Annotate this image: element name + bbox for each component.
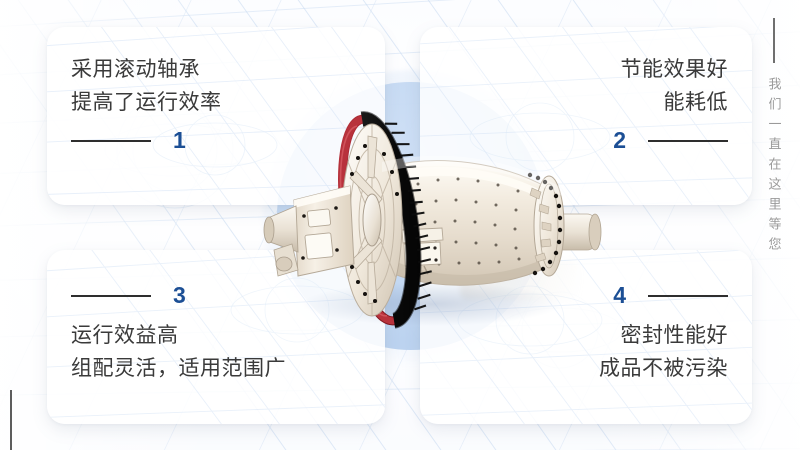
card-2-line-2: 能耗低 <box>664 86 729 119</box>
side-slogan-text: 我们一直在这里等您 <box>765 77 784 257</box>
card-1-rule <box>71 140 151 142</box>
card-4-line-1: 密封性能好 <box>621 319 729 352</box>
side-rule <box>773 18 775 63</box>
card-1-line-1: 采用滚动轴承 <box>71 53 200 86</box>
poster-canvas: 采用滚动轴承 提高了运行效率 1 节能效果好 能耗低 <box>0 0 800 450</box>
card-4-number: 4 <box>613 284 626 307</box>
card-4-line-2: 成品不被污染 <box>599 352 728 385</box>
card-3-line-2: 组配灵活，适用范围广 <box>71 352 286 385</box>
card-4-rule <box>648 295 728 297</box>
card-2-number: 2 <box>613 129 626 152</box>
card-2-number-row: 2 <box>613 129 728 152</box>
card-3-rule <box>71 295 151 297</box>
card-2-rule <box>648 140 728 142</box>
card-3-number: 3 <box>173 284 186 307</box>
card-1-line-2: 提高了运行效率 <box>71 86 222 119</box>
card-4-number-row: 4 <box>613 284 728 307</box>
feed-end-housing <box>264 186 354 276</box>
card-1-number: 1 <box>173 129 186 152</box>
card-3-number-row: 3 <box>71 284 186 307</box>
card-1-number-row: 1 <box>71 129 186 152</box>
ball-mill-machine-image <box>232 92 612 344</box>
card-2-line-1: 节能效果好 <box>621 53 729 86</box>
side-slogan: 我们一直在这里等您 <box>756 18 792 348</box>
card-3-line-1: 运行效益高 <box>71 319 179 352</box>
corner-accent-rule <box>10 390 12 450</box>
